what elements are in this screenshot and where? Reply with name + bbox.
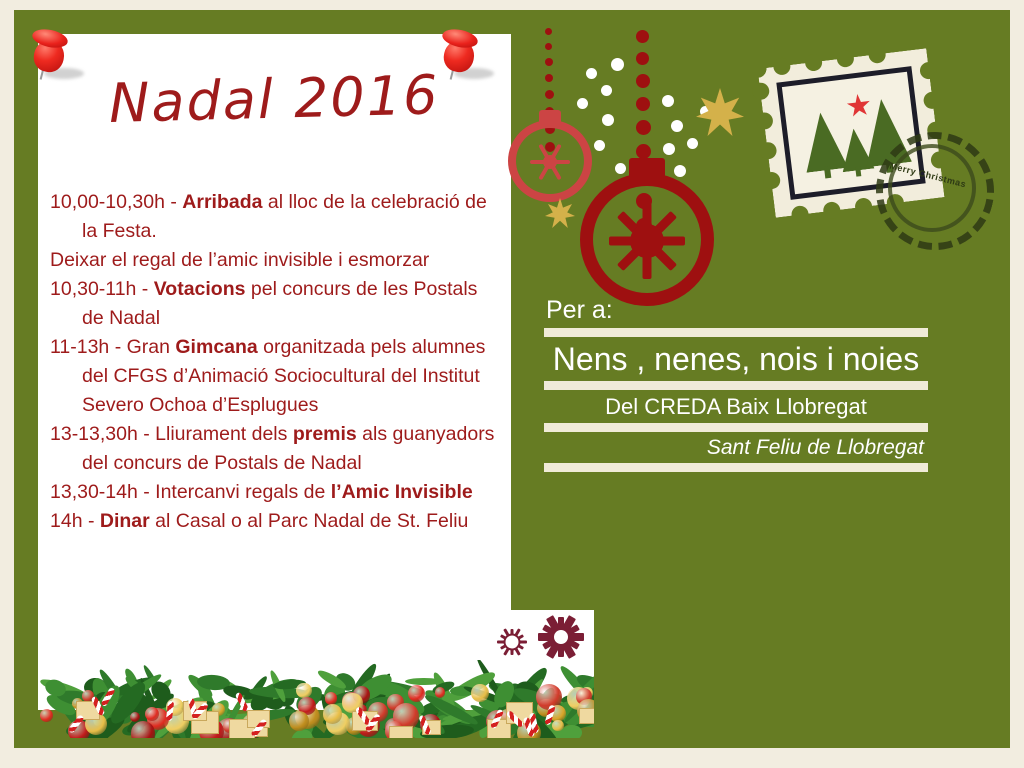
garland-bauble: [325, 692, 337, 704]
program-entry-highlight: Votacions: [154, 278, 246, 300]
star-icon: [545, 198, 575, 228]
snow-dot: [577, 98, 588, 109]
garland-bauble: [435, 687, 446, 698]
program-entry-highlight: Dinar: [100, 510, 150, 532]
snow-dot: [594, 140, 605, 151]
audience-panel: Per a: Nens , nenes, nois i noies Del CR…: [544, 296, 928, 476]
garland-bauble: [289, 711, 309, 731]
snowflake-icon: [490, 620, 534, 664]
audience-main-line: Nens , nenes, nois i noies: [544, 341, 928, 378]
snow-dot: [611, 58, 624, 71]
garland-bauble: [131, 721, 155, 738]
program-entry-highlight: Gimcana: [175, 336, 257, 358]
snow-dot: [662, 95, 674, 107]
program-entry: 11-13h - Gran Gimcana organitzada pels a…: [50, 333, 502, 420]
garland-gift: [579, 708, 595, 724]
poster-canvas: Nadal 2016 10,00-10,30h - Arribada al ll…: [14, 10, 1010, 748]
pushpin-icon: [438, 24, 492, 94]
program-entry: 13-13,30h - Lliurament dels premis als g…: [50, 420, 502, 478]
divider: [544, 423, 928, 432]
snow-dot: [674, 165, 686, 177]
program-entry: 10,30-11h - Votacions pel concurs de les…: [50, 275, 502, 333]
snow-dot: [663, 143, 675, 155]
christmas-garland-decoration: [38, 660, 594, 738]
garland-gift: [389, 726, 414, 738]
audience-label: Per a:: [544, 296, 928, 325]
snow-dot: [687, 138, 698, 149]
program-list: 10,00-10,30h - Arribada al lloc de la ce…: [50, 188, 502, 536]
program-entry-highlight: premis: [293, 423, 357, 445]
snow-dot: [602, 114, 614, 126]
program-entry: Deixar el regal de l’amic invisible i es…: [50, 246, 502, 275]
snow-dot: [615, 163, 626, 174]
divider: [544, 381, 928, 390]
snow-dot: [601, 85, 612, 96]
pushpin-icon: [28, 24, 82, 94]
program-entry: 14h - Dinar al Casal o al Parc Nadal de …: [50, 507, 502, 536]
snowflake-icon: [532, 608, 590, 666]
garland-pine: [405, 677, 443, 684]
audience-place: Sant Feliu de Llobregat: [544, 436, 928, 460]
christmas-bauble-icon: [580, 158, 714, 306]
program-entry: 10,00-10,30h - Arribada al lloc de la ce…: [50, 188, 502, 246]
garland-bauble: [408, 685, 425, 702]
program-entry: 13,30-14h - Intercanvi regals de l’Amic …: [50, 478, 502, 507]
christmas-poster: Nadal 2016 10,00-10,30h - Arribada al ll…: [0, 0, 1024, 768]
snow-dot: [671, 120, 683, 132]
program-entry-highlight: l’Amic Invisible: [331, 481, 473, 503]
garland-bauble: [40, 709, 53, 722]
snow-dot: [586, 68, 597, 79]
page-title: Nadal 2016: [108, 63, 440, 135]
audience-organisation: Del CREDA Baix Llobregat: [544, 394, 928, 420]
program-entry-highlight: Arribada: [182, 191, 262, 213]
garland-bauble: [296, 683, 312, 699]
divider: [544, 328, 928, 337]
divider: [544, 463, 928, 472]
